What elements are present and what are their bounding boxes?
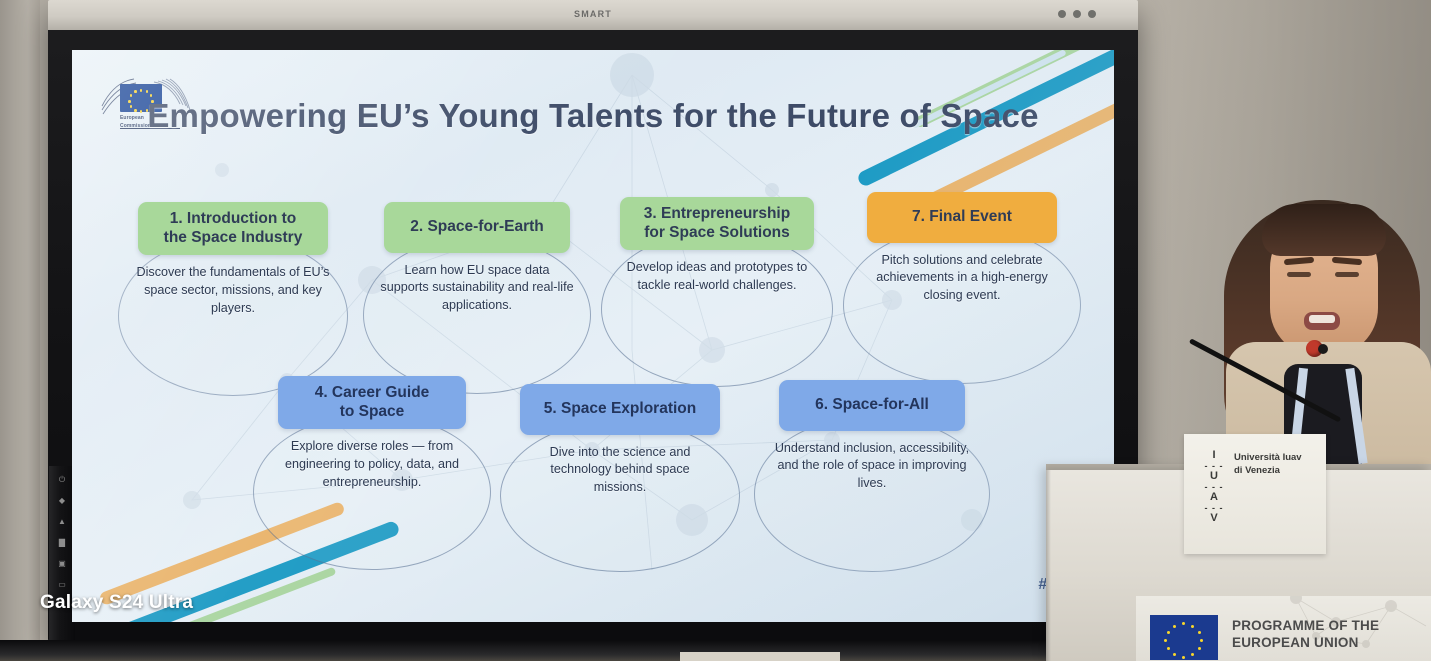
slide-title: Empowering EU’s Young Talents for the Fu… bbox=[72, 97, 1114, 135]
node-7[interactable]: 7. Final Event Pitch solutions and celeb… bbox=[862, 192, 1062, 305]
speaker-eye-right bbox=[1335, 272, 1359, 277]
node-5-pill[interactable]: 5. Space Exploration bbox=[520, 384, 720, 435]
node-1-label-line1: 1. Introduction to bbox=[150, 210, 316, 229]
display-bottom-edge bbox=[0, 640, 1140, 661]
node-6-label-line1: 6. Space-for-All bbox=[791, 396, 953, 415]
eu-banner-line1: PROGRAMME OF THE bbox=[1232, 618, 1379, 635]
node-3-description: Develop ideas and prototypes to tackle r… bbox=[624, 259, 810, 295]
node-2-pill[interactable]: 2. Space-for-Earth bbox=[384, 202, 570, 253]
node-1-label-line2: the Space Industry bbox=[150, 229, 316, 248]
iuav-letter-i: I bbox=[1202, 450, 1226, 462]
podium-left-edge bbox=[1046, 470, 1051, 661]
node-3-ellipse bbox=[601, 231, 833, 387]
eu-banner-flag bbox=[1150, 615, 1218, 660]
node-3-label-line1: 3. Entrepreneurship bbox=[632, 205, 802, 224]
smart-brand-label: SMART bbox=[48, 9, 1138, 19]
iuav-letter-a: A bbox=[1202, 492, 1226, 504]
node-5-label-line1: 5. Space Exploration bbox=[532, 400, 708, 419]
node-4[interactable]: 4. Career Guide to Space Explore diverse… bbox=[272, 376, 472, 492]
slide-canvas[interactable]: European Commission Empowering EU’s Youn… bbox=[72, 50, 1114, 622]
menu-icon[interactable]: ▣ bbox=[58, 560, 66, 568]
node-7-pill[interactable]: 7. Final Event bbox=[867, 192, 1057, 243]
microphone-tip bbox=[1318, 344, 1328, 354]
display-top-bezel: SMART bbox=[48, 0, 1138, 30]
home-icon[interactable]: ▭ bbox=[58, 581, 66, 589]
wall-seam bbox=[0, 0, 40, 661]
node-6-description: Understand inclusion, accessibility, and… bbox=[772, 440, 972, 494]
camera-watermark: Galaxy S24 Ultra bbox=[40, 592, 193, 614]
bezel-dot-2 bbox=[1073, 10, 1081, 18]
node-1-pill[interactable]: 1. Introduction to the Space Industry bbox=[138, 202, 328, 255]
iuav-name-line2: di Venezia bbox=[1234, 465, 1302, 478]
node-7-description: Pitch solutions and celebrate achievemen… bbox=[861, 252, 1063, 306]
iuav-logo-mark: I - - - U - - - A - - - V bbox=[1202, 450, 1226, 525]
iuav-letter-u: U bbox=[1202, 471, 1226, 483]
node-5[interactable]: 5. Space Exploration Dive into the scien… bbox=[517, 384, 723, 497]
floor-object bbox=[680, 652, 840, 661]
node-3[interactable]: 3. Entrepreneurship for Space Solutions … bbox=[614, 197, 820, 295]
node-4-label-line2: to Space bbox=[290, 403, 454, 422]
node-1[interactable]: 1. Introduction to the Space Industry Di… bbox=[124, 202, 342, 318]
iuav-name-line1: Università Iuav bbox=[1234, 452, 1302, 465]
iuav-sign: I - - - U - - - A - - - V Università Iua… bbox=[1184, 434, 1326, 554]
speaker-brow-right bbox=[1332, 257, 1362, 266]
node-4-description: Explore diverse roles — from engineering… bbox=[267, 438, 477, 492]
source-icon[interactable]: ◆ bbox=[59, 497, 65, 505]
node-2[interactable]: 2. Space-for-Earth Learn how EU space da… bbox=[377, 202, 577, 315]
speaker-teeth bbox=[1309, 315, 1335, 323]
presentation-room-photo: SMART ⏻ ◆ ▲ ▇ ▣ ▭ bbox=[0, 0, 1431, 661]
bezel-indicator-dots bbox=[1058, 10, 1096, 18]
eu-banner-text: PROGRAMME OF THE EUROPEAN UNION bbox=[1232, 618, 1379, 652]
eu-banner-line2: EUROPEAN UNION bbox=[1232, 635, 1379, 652]
power-icon[interactable]: ⏻ bbox=[59, 476, 65, 484]
iuav-name: Università Iuav di Venezia bbox=[1234, 452, 1302, 478]
node-2-description: Learn how EU space data supports sustain… bbox=[380, 262, 574, 316]
speaker-eye-left bbox=[1287, 272, 1311, 277]
node-3-pill[interactable]: 3. Entrepreneurship for Space Solutions bbox=[620, 197, 814, 250]
node-7-label-line1: 7. Final Event bbox=[879, 208, 1045, 227]
node-6[interactable]: 6. Space-for-All Understand inclusion, a… bbox=[772, 380, 972, 493]
iuav-letter-v: V bbox=[1202, 513, 1226, 525]
node-4-label-line1: 4. Career Guide bbox=[290, 384, 454, 403]
node-4-pill[interactable]: 4. Career Guide to Space bbox=[278, 376, 466, 429]
speaker-brow-left bbox=[1284, 257, 1314, 266]
bezel-dot-1 bbox=[1058, 10, 1066, 18]
node-6-pill[interactable]: 6. Space-for-All bbox=[779, 380, 965, 431]
node-2-label-line1: 2. Space-for-Earth bbox=[396, 218, 558, 237]
node-5-description: Dive into the science and technology beh… bbox=[523, 444, 717, 498]
node-1-description: Discover the fundamentals of EU’s space … bbox=[133, 264, 333, 318]
volume-up-icon[interactable]: ▲ bbox=[58, 518, 66, 526]
bezel-dot-3 bbox=[1088, 10, 1096, 18]
eu-programme-banner: PROGRAMME OF THE EUROPEAN UNION bbox=[1136, 596, 1431, 661]
speaker-fringe bbox=[1262, 204, 1386, 256]
node-3-label-line2: for Space Solutions bbox=[632, 224, 802, 243]
volume-down-icon[interactable]: ▇ bbox=[59, 539, 65, 547]
